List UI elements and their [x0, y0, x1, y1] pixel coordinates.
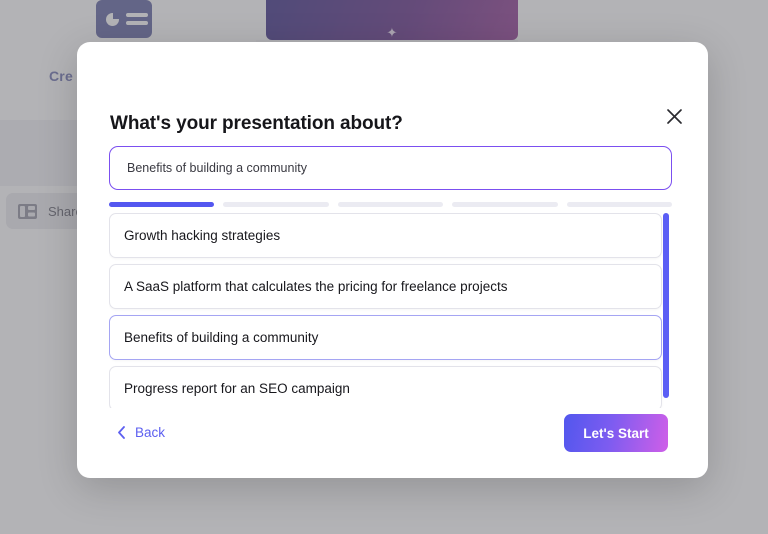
topic-input[interactable]	[109, 146, 672, 190]
presentation-topic-dialog: What's your presentation about? Hide Exa…	[77, 42, 708, 478]
progress-steps	[109, 202, 672, 207]
start-button[interactable]: Let's Start	[564, 414, 668, 452]
chevron-left-icon	[117, 426, 126, 439]
progress-step-2	[223, 202, 328, 207]
back-button-label: Back	[135, 425, 165, 440]
dialog-title: What's your presentation about?	[110, 113, 403, 135]
examples-scrollbar[interactable]	[663, 213, 669, 408]
progress-step-1	[109, 202, 214, 207]
examples-list-container: Growth hacking strategies A SaaS platfor…	[109, 213, 701, 408]
examples-scrollbar-thumb[interactable]	[663, 213, 669, 398]
close-icon[interactable]	[662, 104, 686, 128]
progress-step-5	[567, 202, 672, 207]
back-button[interactable]: Back	[117, 425, 165, 440]
app-screen: ✦ Cre Shared What's your presentation ab…	[0, 0, 768, 534]
progress-step-3	[338, 202, 443, 207]
progress-step-4	[452, 202, 557, 207]
dialog-footer: Back Let's Start	[77, 407, 708, 478]
example-item-selected[interactable]: Benefits of building a community	[109, 315, 662, 360]
example-item[interactable]: Growth hacking strategies	[109, 213, 662, 258]
example-item[interactable]: Progress report for an SEO campaign	[109, 366, 662, 408]
example-item[interactable]: A SaaS platform that calculates the pric…	[109, 264, 662, 309]
examples-list: Growth hacking strategies A SaaS platfor…	[109, 213, 701, 408]
